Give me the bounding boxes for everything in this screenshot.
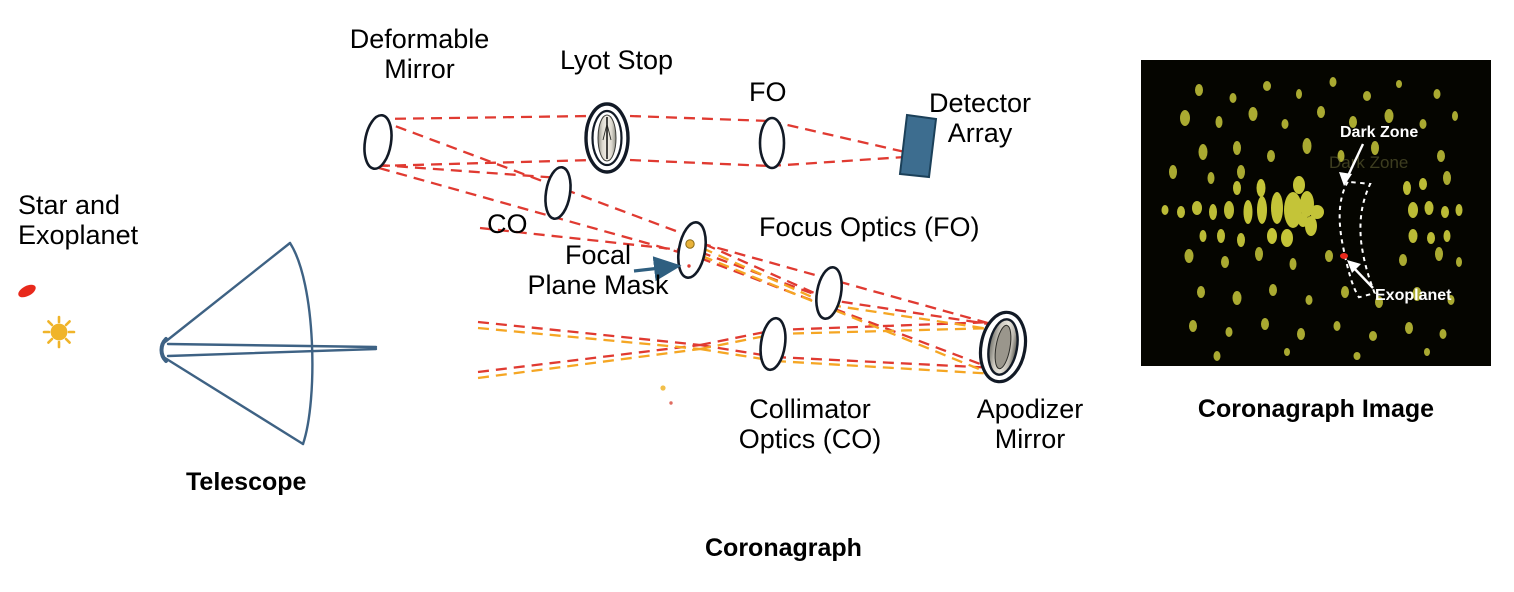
diagram-canvas: DeformableMirror Star andExoplanet Teles… [0,0,1514,592]
label-lyot-stop: Lyot Stop [549,45,684,75]
dark-zone-annotation-label: Dark Zone [1340,124,1418,141]
lyot-stop-optic [586,104,628,172]
stray-marks [660,385,672,404]
label-focus-optics: Focus Optics (FO) [759,212,980,242]
coronagraph-image-content: Dark Zone Dark Zone Exoplanet [1141,60,1491,366]
label-fo-short: FO [749,77,787,107]
exoplanet-dot [1340,253,1348,259]
label-focal-plane-mask: FocalPlane Mask [512,240,684,300]
telescope-graphic [162,243,377,444]
label-star-and-exoplanet: Star andExoplanet [18,190,138,250]
focus-optics-upper-optic [760,118,784,168]
coronagraph-image: Dark Zone Dark Zone Exoplanet [1141,60,1491,366]
collimator-optics-2-optic [757,317,788,372]
exoplanet-annotation-label: Exoplanet [1375,287,1452,304]
ghost-dark-zone-text: Dark Zone [1329,153,1408,172]
label-co-short: CO [487,209,528,239]
label-apodizer-mirror: ApodizerMirror [960,394,1100,454]
label-star-and-exoplanet-spacer: DeformableMirror [337,24,502,84]
label-collimator-optics: CollimatorOptics (CO) [720,394,900,454]
deformable-mirror-optic [361,113,395,170]
caption-coronagraph-image: Coronagraph Image [1141,395,1491,423]
star-icon [44,317,74,347]
label-telescope: Telescope [186,468,306,496]
label-detector-array: DetectorArray [918,88,1042,148]
collimator-optics-1-optic [542,165,574,220]
label-coronagraph: Coronagraph [705,534,862,562]
exoplanet-icon [16,282,37,300]
